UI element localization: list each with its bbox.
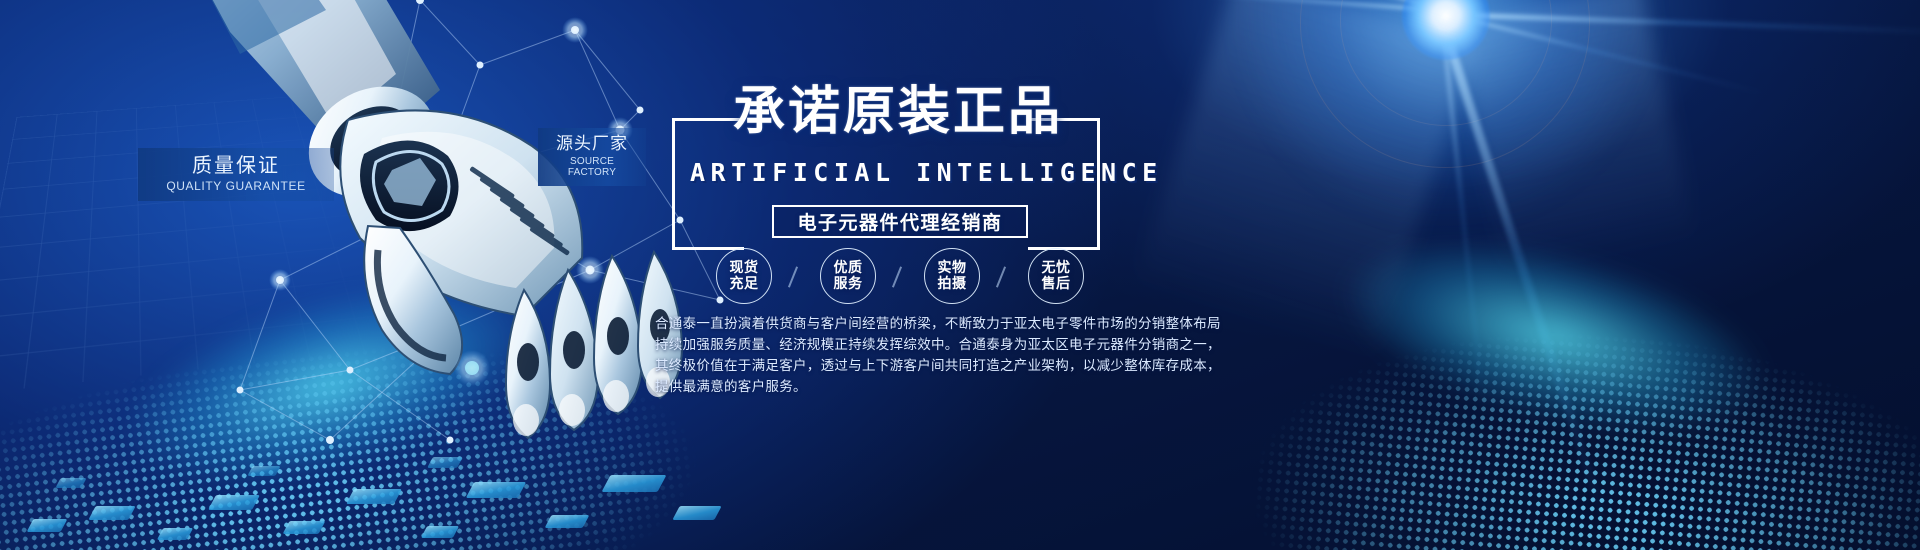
description-line: 持续加强服务质量、经济规模正持续发挥综效中。合通泰身为亚太区电子元器件分销商之一… bbox=[655, 334, 1315, 355]
block-field bbox=[0, 410, 760, 550]
wave-crest-right bbox=[1326, 205, 1783, 469]
feature-line1: 优质 bbox=[834, 260, 863, 276]
light-ray bbox=[975, 0, 1444, 12]
light-ray bbox=[1156, 0, 1445, 12]
badge-source-factory: 源头厂家 SOURCE FACTORY bbox=[538, 128, 646, 186]
feature-badge-after-sales[interactable]: 无忧 售后 bbox=[1028, 248, 1084, 304]
light-ray bbox=[1444, 0, 1630, 14]
light-beam bbox=[1455, 0, 1695, 277]
description-paragraph: 合通泰一直扮演着供货商与客户间经营的桥梁，不断致力于亚太电子零件市场的分销整体布… bbox=[655, 313, 1315, 397]
light-ray bbox=[1444, 0, 1530, 13]
bracket-bottom-left bbox=[672, 196, 744, 250]
description-line: 提供最满意的客户服务。 bbox=[655, 376, 1315, 397]
badge-quality-en: QUALITY GUARANTEE bbox=[154, 179, 318, 193]
feature-line1: 现货 bbox=[730, 260, 759, 276]
feature-line2: 服务 bbox=[834, 276, 863, 292]
light-burst-halo-outer bbox=[1300, 0, 1590, 168]
bracket-bottom-right bbox=[1028, 196, 1100, 250]
light-ray bbox=[1439, 12, 1488, 430]
feature-line2: 拍摄 bbox=[938, 276, 967, 292]
feature-separator bbox=[788, 266, 798, 287]
feature-badge-service[interactable]: 优质 服务 bbox=[820, 248, 876, 304]
badge-quality-guarantee: 质量保证 QUALITY GUARANTEE bbox=[138, 148, 334, 201]
feature-line1: 无忧 bbox=[1042, 260, 1071, 276]
feature-line2: 售后 bbox=[1042, 276, 1071, 292]
feature-separator bbox=[892, 266, 902, 287]
light-beam bbox=[1135, 0, 1475, 361]
light-ray bbox=[1435, 12, 1617, 547]
light-ray bbox=[1364, 0, 1448, 12]
badge-quality-cn: 质量保证 bbox=[154, 155, 318, 177]
light-ray bbox=[1443, 12, 1764, 95]
badge-factory-en: SOURCE FACTORY bbox=[554, 156, 630, 178]
feature-badge-stock[interactable]: 现货 充足 bbox=[716, 248, 772, 304]
feature-badge-row: 现货 充足 优质 服务 实物 拍摄 无忧 售后 bbox=[716, 248, 1116, 308]
light-ray bbox=[1444, 12, 1920, 35]
description-line: 合通泰一直扮演着供货商与客户间经营的桥梁，不断致力于亚太电子零件市场的分销整体布… bbox=[655, 313, 1315, 334]
badge-factory-cn: 源头厂家 bbox=[554, 135, 630, 154]
boxed-tagline: 电子元器件代理经销商 bbox=[772, 205, 1028, 238]
feature-badge-real-photo[interactable]: 实物 拍摄 bbox=[924, 248, 980, 304]
feature-line2: 充足 bbox=[730, 276, 759, 292]
description-line: 其终极价值在于满足客户，透过与上下游客户间共同打造之产业架构，以减少整体库存成本… bbox=[655, 355, 1315, 376]
promo-banner: 质量保证 QUALITY GUARANTEE 源头厂家 SOURCE FACTO… bbox=[0, 0, 1920, 550]
wave-crest-left bbox=[105, 245, 556, 524]
perspective-grid bbox=[0, 91, 477, 395]
main-headline: 承诺原装正品 bbox=[718, 86, 1078, 138]
light-burst-glow bbox=[1230, 0, 1660, 230]
boxed-tagline-text: 电子元器件代理经销商 bbox=[797, 208, 1002, 235]
feature-line1: 实物 bbox=[938, 260, 967, 276]
sub-headline-english: ARTIFICIAL INTELLIGENCE bbox=[690, 158, 1110, 187]
light-burst-core bbox=[1402, 0, 1490, 60]
light-burst-halo-inner bbox=[1340, 0, 1552, 126]
robot-hand-illustration bbox=[120, 0, 780, 530]
feature-separator bbox=[996, 266, 1006, 287]
